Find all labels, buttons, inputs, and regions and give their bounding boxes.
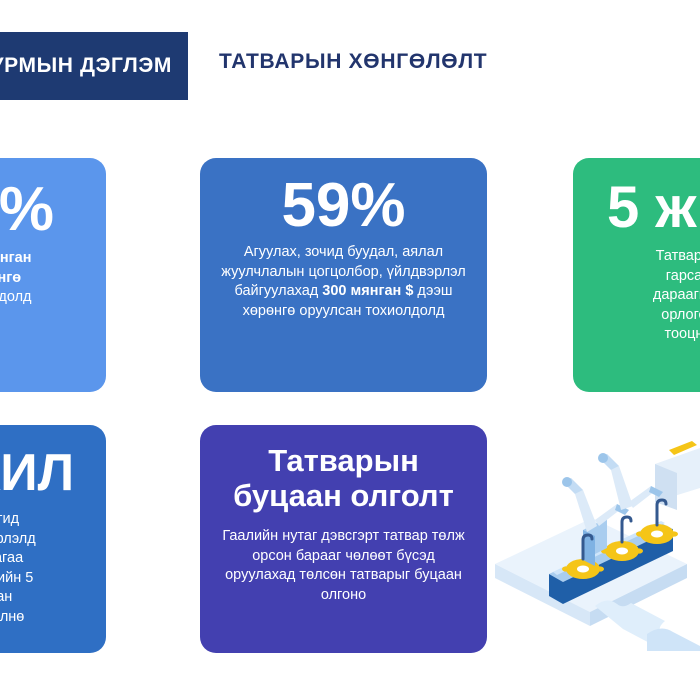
card-bottom-left-line2: үйлдвэрлэлд <box>0 530 36 550</box>
card-top-left-line1: 500 мянган <box>0 249 32 269</box>
card-top-left: 90% 500 мянган хөрөнгө тохиолдолд <box>0 158 106 392</box>
card-top-right-body: Татварын гарсан дараагийн орлогод тооцно <box>653 247 700 345</box>
card-top-center: 59% Агуулах, зочид буудал, аялал жуулчла… <box>200 158 487 392</box>
card-bottom-left-line4: жилээгийн 5 <box>0 569 36 589</box>
card-top-right-line1: Татварын <box>653 247 700 267</box>
card-top-center-stat: 59% <box>281 174 405 237</box>
card-bottom-left-line3: хамрагаа <box>0 549 36 569</box>
card-bottom-center: Татварын буцаан олголт Гаалийн нутаг дэв… <box>200 425 487 653</box>
robot-arm-icon <box>598 453 663 510</box>
card-top-right-stat: 5 жил <box>607 178 700 237</box>
puzzle-piece-icon <box>647 628 700 651</box>
card-top-center-body-bold: 300 мянган $ <box>322 283 413 299</box>
page-title: ТАТВАРЫН ХӨНГӨЛӨЛТ <box>219 50 487 74</box>
header-badge: ЖУРМЫН ДЭГЛЭМ <box>0 32 188 100</box>
card-top-right-line5: тооцно <box>653 325 700 345</box>
slide-canvas: ЖУРМЫН ДЭГЛЭМ ТАТВАРЫН ХӨНГӨЛӨЛТ 90% 500… <box>0 0 700 700</box>
card-top-center-body: Агуулах, зочид буудал, аялал жуулчлалын … <box>216 243 471 321</box>
card-bottom-left-line1: орлогид <box>0 510 36 530</box>
card-top-left-stat: 90% <box>0 178 54 241</box>
card-bottom-left: 5 ЖИЛ орлогид үйлдвэрлэлд хамрагаа жилээ… <box>0 425 106 653</box>
card-top-left-line3: тохиолдолд <box>0 288 32 308</box>
card-bottom-center-body: Гаалийн нутаг дэвсгэрт татвар төлж орсон… <box>218 527 469 605</box>
card-top-left-body: 500 мянган хөрөнгө тохиолдолд <box>0 249 32 308</box>
card-top-left-line2: хөрөнгө <box>0 269 32 289</box>
card-top-right-line4: орлогод <box>653 306 700 326</box>
isometric-factory-illustration <box>487 436 700 651</box>
card-top-right: 5 жил Татварын гарсан дараагийн орлогод … <box>573 158 700 392</box>
card-bottom-center-heading: Татварын буцаан олголт <box>218 443 469 513</box>
card-bottom-left-line6: чөлөөлнө <box>0 608 36 628</box>
card-top-right-line3: дараагийн <box>653 286 700 306</box>
card-bottom-left-body: орлогид үйлдвэрлэлд хамрагаа жилээгийн 5… <box>0 510 36 627</box>
card-top-right-line2: гарсан <box>653 267 700 287</box>
card-bottom-left-stat: 5 ЖИЛ <box>0 447 74 500</box>
card-bottom-left-line5: албан <box>0 588 36 608</box>
header-badge-label: ЖУРМЫН ДЭГЛЭМ <box>0 54 172 78</box>
